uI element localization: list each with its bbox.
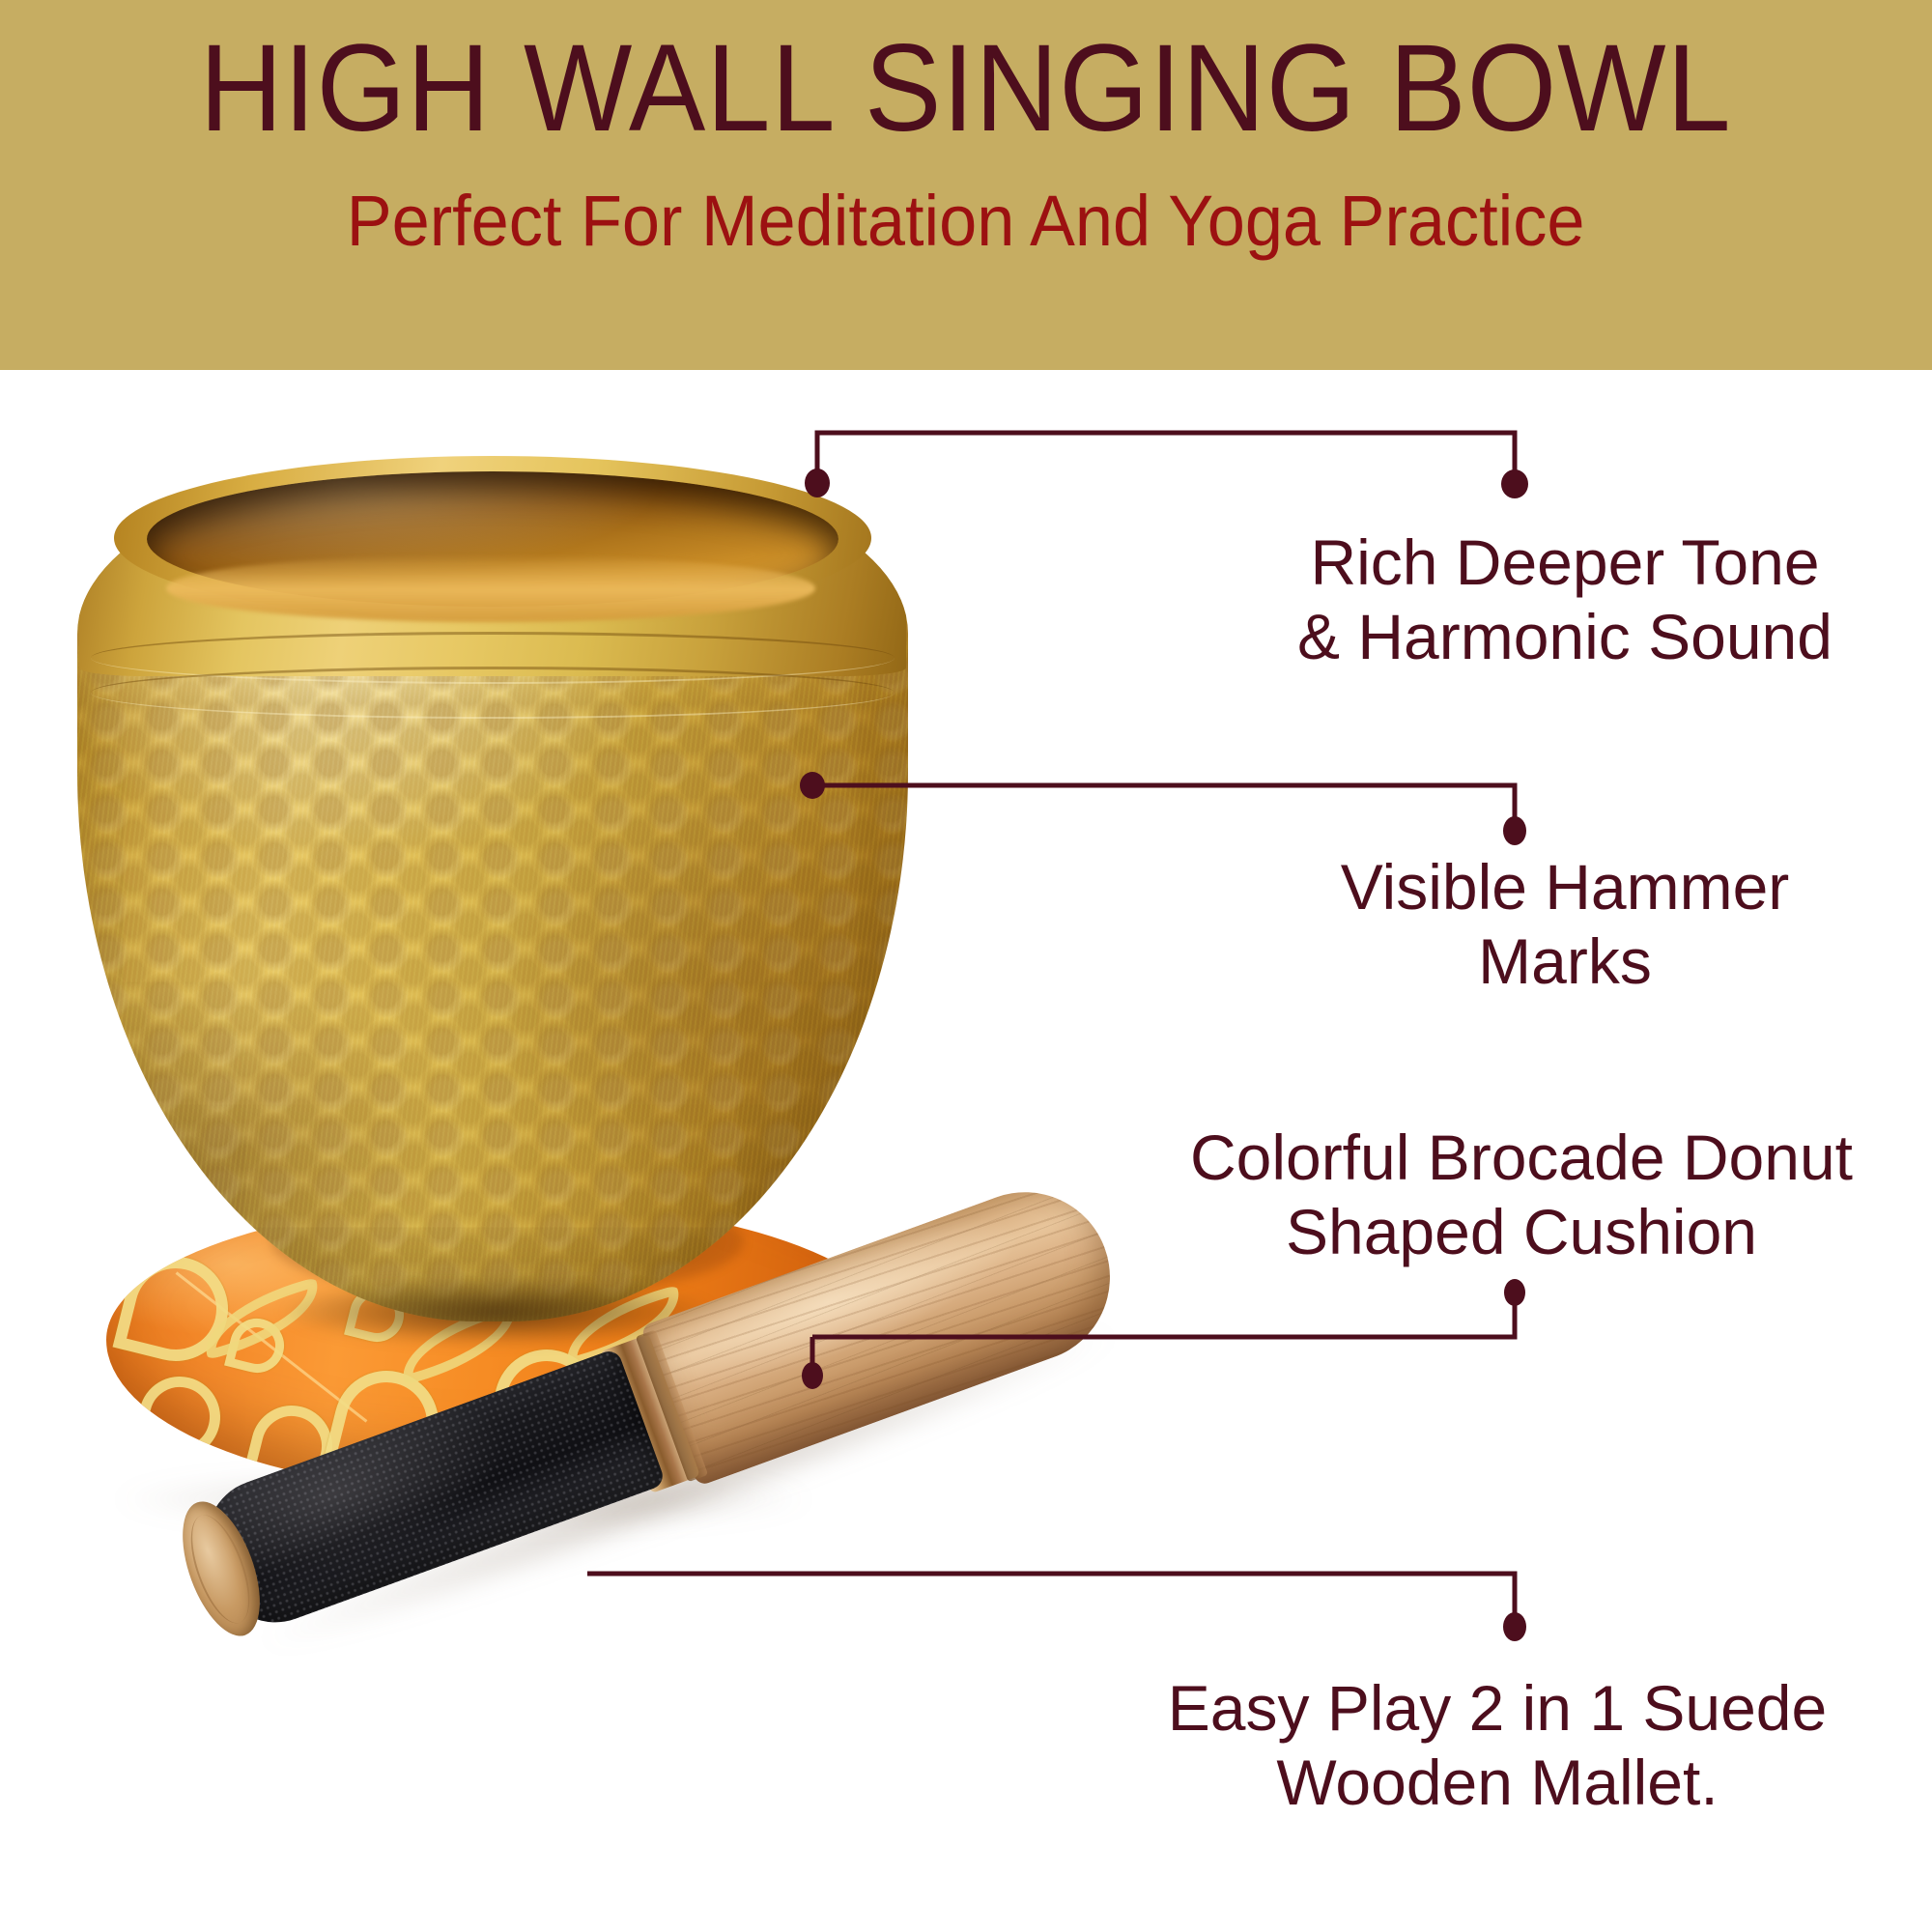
callout-label-visible-hammer-marks: Visible Hammer Marks	[1207, 850, 1922, 998]
product-photo	[0, 370, 1111, 1932]
bowl-incised-ring	[91, 667, 895, 719]
header-band: HIGH WALL SINGING BOWL Perfect For Medit…	[0, 0, 1932, 370]
callout-label-brocade-cushion: Colorful Brocade Donut Shaped Cushion	[1111, 1121, 1932, 1268]
page-subtitle: Perfect For Meditation And Yoga Practice	[347, 185, 1585, 257]
bowl-interior-highlight	[166, 554, 815, 622]
callout-label-rich-deeper-tone: Rich Deeper Tone & Harmonic Sound	[1198, 526, 1932, 673]
singing-bowl	[77, 462, 908, 1336]
callout-label-suede-mallet: Easy Play 2 in 1 Suede Wooden Mallet.	[1072, 1671, 1922, 1819]
page-title: HIGH WALL SINGING BOWL	[200, 27, 1732, 151]
